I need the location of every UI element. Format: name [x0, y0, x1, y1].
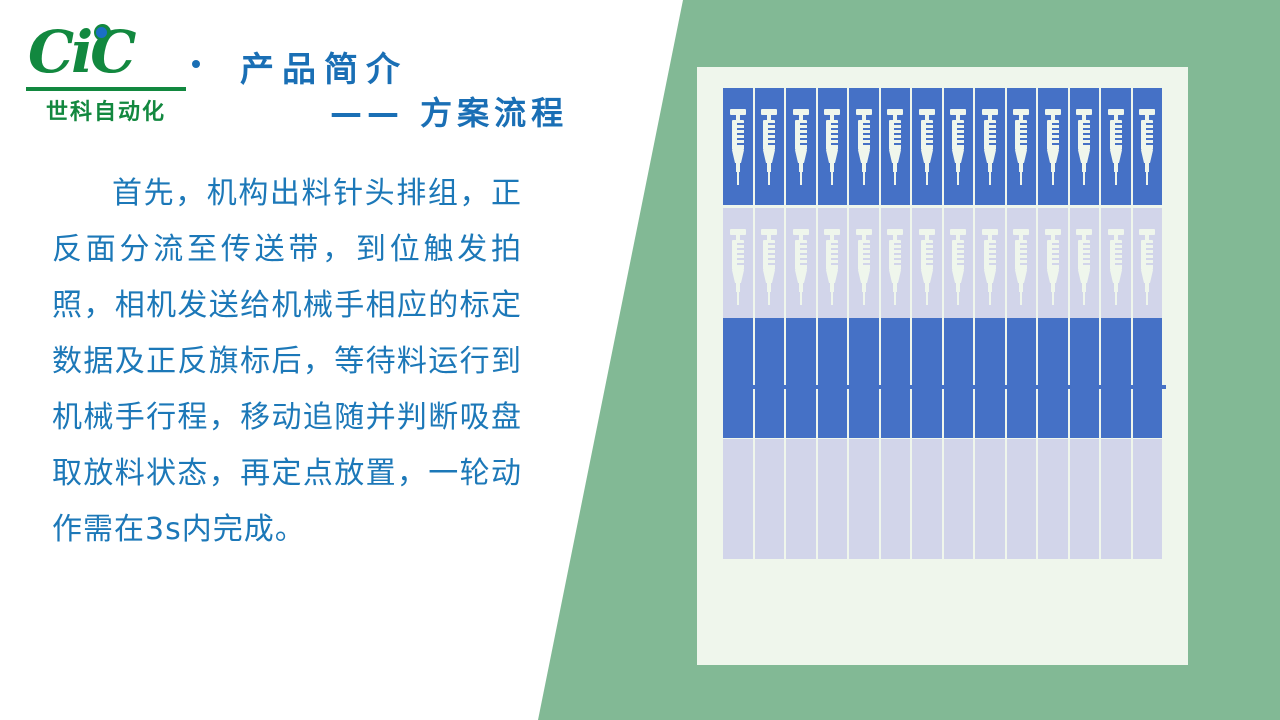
- rack-cell: [1101, 208, 1131, 325]
- rack-cell: [818, 439, 848, 559]
- illustration-panel: [697, 67, 1188, 665]
- rack-top-empty: [723, 208, 1162, 325]
- rack-cell: [723, 318, 753, 438]
- rack-cell: [1101, 88, 1131, 205]
- page-title: 产品简介: [240, 42, 408, 91]
- logo-underline-rule: [26, 87, 186, 91]
- rack-cell: [944, 318, 974, 438]
- syringe-icon: [1138, 229, 1156, 305]
- rack-cell: [818, 208, 848, 325]
- syringe-icon: [1138, 109, 1156, 185]
- syringe-icon: [1044, 109, 1062, 185]
- globe-dot-icon: [94, 24, 111, 41]
- rack-cell: [912, 88, 942, 205]
- syringe-icon: [855, 229, 873, 305]
- syringe-icon: [886, 109, 904, 185]
- rack-cell: [1133, 318, 1163, 438]
- rack-cell: [723, 88, 753, 205]
- rack-cell: [1133, 88, 1163, 205]
- syringe-icon: [729, 109, 747, 185]
- syringe-icon: [1075, 229, 1093, 305]
- syringe-icon: [1044, 229, 1062, 305]
- rack-bottom-loaded: [723, 318, 1162, 438]
- rack-cell: [818, 88, 848, 205]
- syringe-icon: [855, 109, 873, 185]
- rack-cell: [849, 208, 879, 325]
- syringe-icon: [760, 229, 778, 305]
- rack-cell: [912, 318, 942, 438]
- page-subtitle: —— 方案流程: [330, 88, 568, 134]
- rack-cell: [1038, 88, 1068, 205]
- syringe-icon: [981, 229, 999, 305]
- logo-wordmark: CiC: [28, 19, 133, 85]
- syringe-icon: [949, 109, 967, 185]
- syringe-icon: [1012, 109, 1030, 185]
- syringe-icon: [949, 229, 967, 305]
- rack-cell: [1101, 439, 1131, 559]
- rack-cell: [1007, 318, 1037, 438]
- rack-cell: [1070, 88, 1100, 205]
- rack-cell: [755, 88, 785, 205]
- syringe-icon: [918, 229, 936, 305]
- syringe-icon: [792, 229, 810, 305]
- rack-cell: [1070, 318, 1100, 438]
- rack-cell: [849, 439, 879, 559]
- rack-cell: [912, 439, 942, 559]
- rack-cell: [723, 208, 753, 325]
- rack-cell: [849, 88, 879, 205]
- syringe-icon: [760, 109, 778, 185]
- rack-cell: [786, 318, 816, 438]
- rack-cell: [1101, 318, 1131, 438]
- rack-cell: [975, 88, 1005, 205]
- body-paragraph: 首先，机构出料针头排组，正反面分流至传送带，到位触发拍照，相机发送给机械手相应的…: [52, 166, 522, 558]
- rack-cell: [1007, 439, 1037, 559]
- rack-cell: [1070, 439, 1100, 559]
- rack-cell: [1007, 88, 1037, 205]
- rack-cell: [944, 208, 974, 325]
- rack-cell: [944, 439, 974, 559]
- logo-company-name: 世科自动化: [26, 94, 186, 126]
- rack-bottom-empty: [723, 439, 1162, 559]
- rack-cell: [786, 208, 816, 325]
- syringe-icon: [792, 109, 810, 185]
- rack-cell: [944, 88, 974, 205]
- rack-cell: [818, 318, 848, 438]
- company-logo: CiC 世科自动化: [26, 22, 191, 122]
- syringe-icon: [981, 109, 999, 185]
- rack-cell: [1007, 208, 1037, 325]
- syringe-icon: [1107, 229, 1125, 305]
- syringe-icon: [729, 229, 747, 305]
- rack-cell: [881, 439, 911, 559]
- slide-canvas: CiC 世科自动化 产品简介 —— 方案流程 首先，机构出料针头排组，正反面分流…: [0, 0, 1280, 720]
- rack-cell: [975, 318, 1005, 438]
- rack-cell: [912, 208, 942, 325]
- rack-cell: [881, 208, 911, 325]
- rack-cell: [881, 318, 911, 438]
- rack-cell: [849, 318, 879, 438]
- logo-mark: CiC: [26, 22, 191, 88]
- rack-cell: [1070, 208, 1100, 325]
- rack-cell: [755, 439, 785, 559]
- rack-top-loaded: [723, 88, 1162, 205]
- syringe-icon: [918, 109, 936, 185]
- syringe-icon: [1012, 229, 1030, 305]
- header-bullet-icon: [192, 60, 200, 68]
- syringe-icon: [823, 109, 841, 185]
- syringe-icon: [823, 229, 841, 305]
- rack-cell: [755, 208, 785, 325]
- rack-cell: [1133, 208, 1163, 325]
- rack-cell: [1038, 208, 1068, 325]
- syringe-icon: [886, 229, 904, 305]
- rack-cell: [755, 318, 785, 438]
- rack-cell: [786, 439, 816, 559]
- rack-cell: [723, 439, 753, 559]
- syringe-icon: [1075, 109, 1093, 185]
- syringe-icon: [1107, 109, 1125, 185]
- rack-cell: [881, 88, 911, 205]
- rack-cell: [975, 439, 1005, 559]
- rack-cell: [975, 208, 1005, 325]
- rack-cell: [1133, 439, 1163, 559]
- rack-cell: [1038, 439, 1068, 559]
- rack-cell: [1038, 318, 1068, 438]
- rack-cell: [786, 88, 816, 205]
